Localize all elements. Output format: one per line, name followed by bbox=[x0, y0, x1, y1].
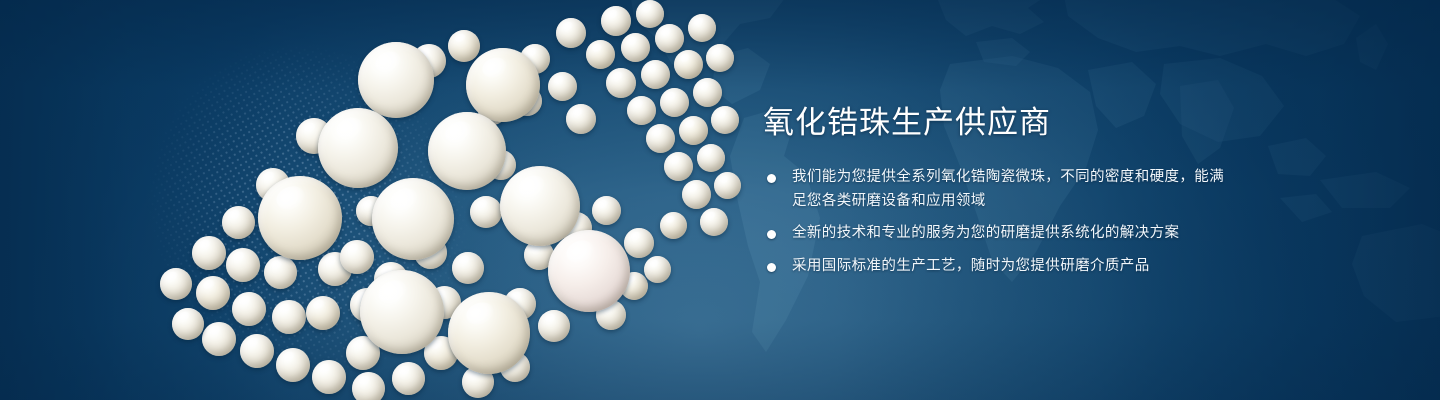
bullet-dot-icon bbox=[767, 230, 776, 239]
page-title: 氧化锆珠生产供应商 bbox=[763, 106, 1233, 140]
list-item-label: 我们能为您提供全系列氧化锆陶瓷微珠，不同的密度和硬度，能满足您各类研磨设备和应用… bbox=[792, 169, 1224, 208]
bullet-dot-icon bbox=[767, 174, 776, 183]
hero-banner: 氧化锆珠生产供应商 我们能为您提供全系列氧化锆陶瓷微珠，不同的密度和硬度，能满足… bbox=[0, 0, 1440, 400]
list-item-label: 采用国际标准的生产工艺，随时为您提供研磨介质产品 bbox=[792, 258, 1150, 274]
zirconia-ceramic-beads bbox=[0, 0, 760, 400]
list-item: 采用国际标准的生产工艺，随时为您提供研磨介质产品 bbox=[763, 255, 1233, 278]
bullet-dot-icon bbox=[767, 263, 776, 272]
feature-list: 我们能为您提供全系列氧化锆陶瓷微珠，不同的密度和硬度，能满足您各类研磨设备和应用… bbox=[763, 166, 1233, 278]
list-item-label: 全新的技术和专业的服务为您的研磨提供系统化的解决方案 bbox=[792, 225, 1179, 241]
banner-copy: 氧化锆珠生产供应商 我们能为您提供全系列氧化锆陶瓷微珠，不同的密度和硬度，能满足… bbox=[763, 106, 1233, 278]
list-item: 全新的技术和专业的服务为您的研磨提供系统化的解决方案 bbox=[763, 222, 1233, 245]
list-item: 我们能为您提供全系列氧化锆陶瓷微珠，不同的密度和硬度，能满足您各类研磨设备和应用… bbox=[763, 166, 1233, 213]
